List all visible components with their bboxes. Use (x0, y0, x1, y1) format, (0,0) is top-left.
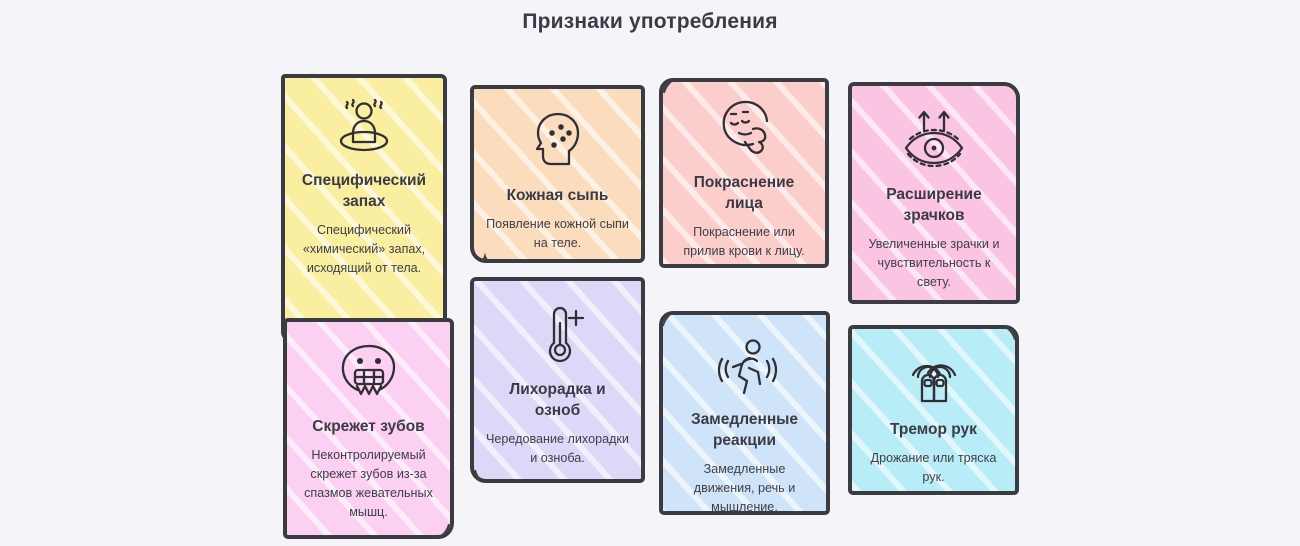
card-description: Неконтролируемый скрежет зубов из-за спа… (299, 446, 438, 522)
smell-person-icon (328, 96, 400, 161)
symptom-card-dilated-pupils[interactable]: Расширение зрачков Увеличенные зрачки и … (848, 82, 1020, 304)
card-description: Дрожание или тряска рук. (864, 449, 1003, 487)
page-curl-decoration (659, 78, 689, 94)
symptom-card-skin-rash[interactable]: Кожная сыпь Появление кожной сыпи на тел… (470, 85, 645, 263)
card-title: Тремор рук (890, 420, 977, 441)
trembling-hands-icon (904, 351, 964, 410)
page-curl-decoration (470, 468, 500, 483)
card-description: Замедленные движения, речь и мышление. (675, 460, 814, 515)
card-title: Специфический запах (297, 171, 431, 213)
card-title: Замедленные реакции (675, 410, 814, 452)
card-title: Покраснение лица (675, 173, 813, 215)
card-title: Кожная сыпь (507, 186, 609, 207)
symptom-card-fever-chills[interactable]: Лихорадка и озноб Чередование лихорадки … (470, 277, 645, 483)
head-rash-icon (525, 111, 591, 176)
card-description: Появление кожной сыпи на теле. (486, 215, 629, 253)
thermometer-icon (528, 303, 588, 370)
running-person-icon (712, 337, 778, 400)
symptom-card-board: Специфический запах Специфический «химич… (0, 0, 1300, 546)
card-description: Специфический «химический» запах, исходя… (297, 221, 431, 278)
grinding-teeth-icon (338, 344, 400, 407)
card-title: Скрежет зубов (312, 417, 424, 438)
symptom-card-facial-redness[interactable]: Покраснение лица Покраснение или прилив … (659, 78, 829, 268)
card-title: Расширение зрачков (864, 185, 1004, 227)
page-curl-decoration (659, 311, 687, 327)
card-description: Чередование лихорадки и озноба. (486, 430, 629, 468)
card-description: Увеличенные зрачки и чувствительность к … (864, 235, 1004, 292)
page-curl-decoration (990, 325, 1019, 341)
symptom-card-hand-tremor[interactable]: Тремор рук Дрожание или тряска рук. (848, 325, 1019, 495)
flushed-face-icon (711, 100, 777, 163)
page-curl-decoration (424, 523, 454, 539)
eye-arrows-icon (898, 108, 970, 175)
symptom-card-specific-smell[interactable]: Специфический запах Специфический «химич… (281, 74, 447, 342)
symptom-card-slowed-reactions[interactable]: Замедленные реакции Замедленные движения… (659, 311, 830, 515)
symptom-card-teeth-grinding[interactable]: Скрежет зубов Неконтролируемый скрежет з… (283, 318, 454, 539)
card-title: Лихорадка и озноб (486, 380, 629, 422)
card-description: Покраснение или прилив крови к лицу. (675, 223, 813, 261)
